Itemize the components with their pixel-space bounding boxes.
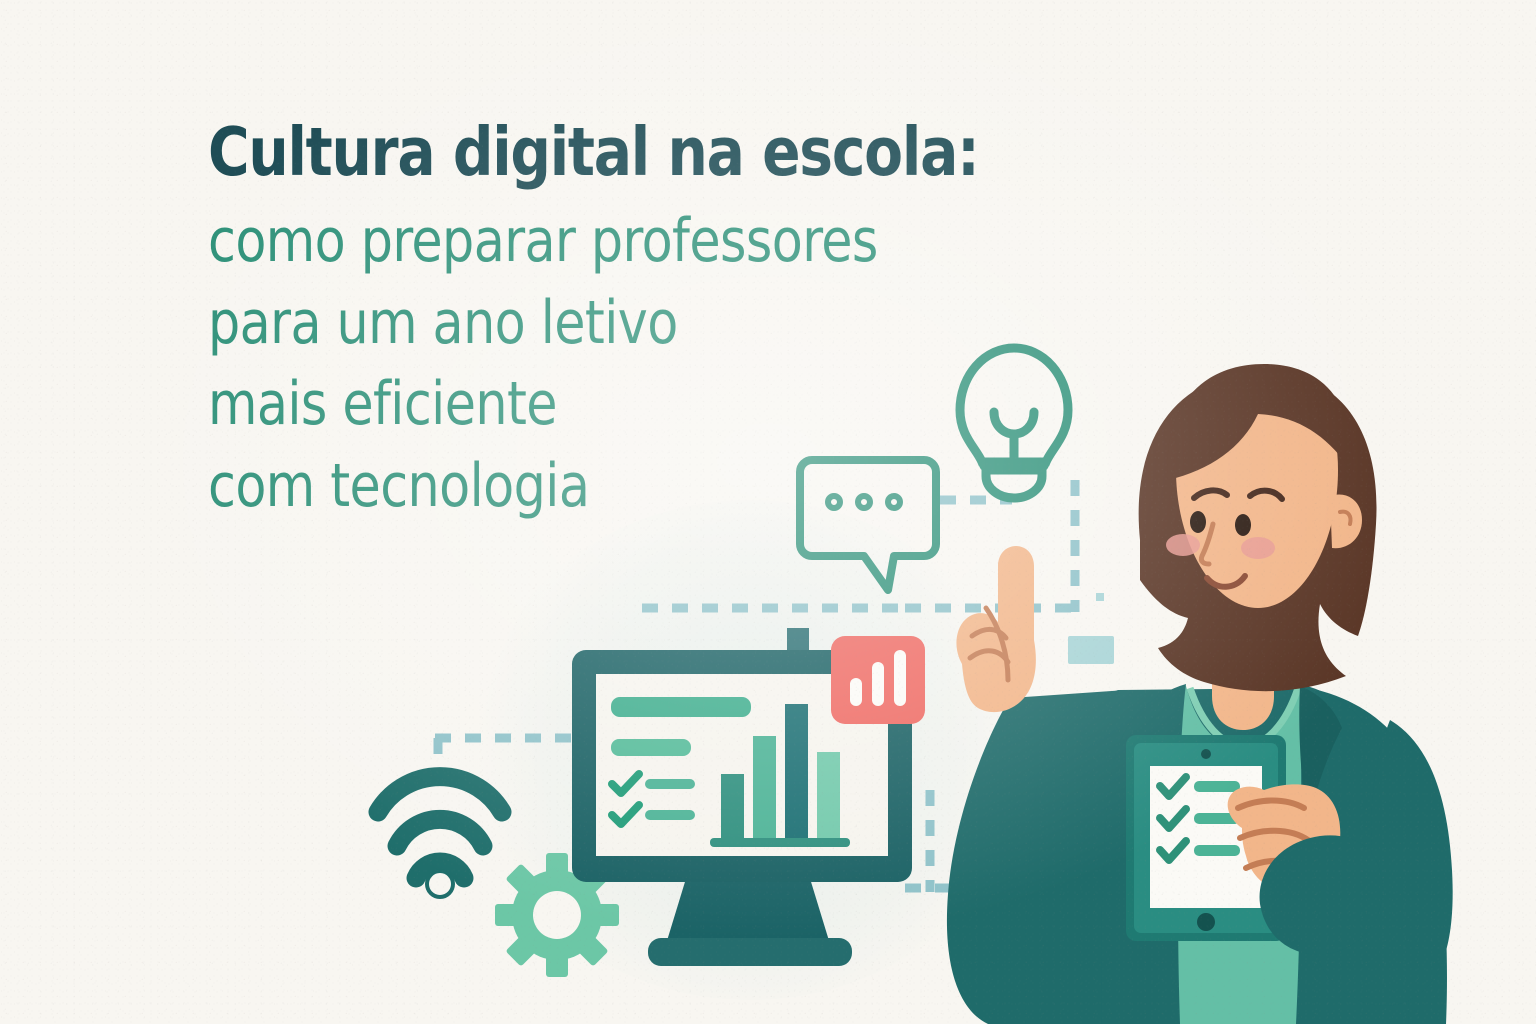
- chart-badge-bar-3: [894, 650, 906, 706]
- wifi-arc-outer: [378, 777, 502, 812]
- chart-badge-bar-1: [850, 678, 862, 706]
- chat-dot-3: [888, 496, 900, 508]
- chart-badge-bar-2: [872, 662, 884, 706]
- screen-bar-2: [753, 736, 776, 838]
- screen-check-line-1: [645, 779, 695, 789]
- chart-badge: [831, 636, 925, 724]
- tablet-home-button: [1197, 913, 1215, 931]
- chat-bubble: [800, 460, 936, 590]
- screen-title-bar: [611, 697, 751, 717]
- eye-right: [1235, 514, 1251, 536]
- screen-bar-baseline: [710, 838, 850, 847]
- screen-sub-bar: [611, 739, 691, 756]
- accent-square-2: [1096, 593, 1104, 601]
- accent-square-3: [787, 628, 809, 650]
- chat-dot-2: [858, 496, 870, 508]
- wifi-icon: [378, 777, 502, 886]
- screen-check-line-2: [645, 810, 695, 820]
- monitor-base: [648, 938, 852, 966]
- tablet-camera: [1201, 749, 1211, 759]
- screen-bar-4: [817, 752, 840, 838]
- blush-right: [1241, 537, 1275, 559]
- banner-canvas: Cultura digital na escola: como preparar…: [0, 0, 1536, 1024]
- monitor-stand: [666, 872, 830, 944]
- chat-dot-1: [828, 496, 840, 508]
- chat-bubble-outline: [800, 460, 936, 590]
- illustration-layer: [0, 0, 1536, 1024]
- tablet-check-line-3: [1194, 845, 1240, 856]
- wifi-arc-mid: [397, 819, 483, 846]
- pointing-hand: [956, 546, 1035, 712]
- eye-left: [1190, 511, 1206, 533]
- lightbulb-base: [986, 470, 1042, 498]
- lightbulb-icon: [960, 348, 1068, 498]
- wifi-dot: [438, 882, 442, 886]
- tablet-check-line-1: [1194, 781, 1240, 792]
- screen-bar-3: [785, 704, 808, 838]
- gear-hole: [533, 891, 581, 939]
- screen-bar-1: [721, 774, 744, 838]
- blush-left: [1166, 534, 1200, 556]
- accent-square-1: [1068, 636, 1114, 664]
